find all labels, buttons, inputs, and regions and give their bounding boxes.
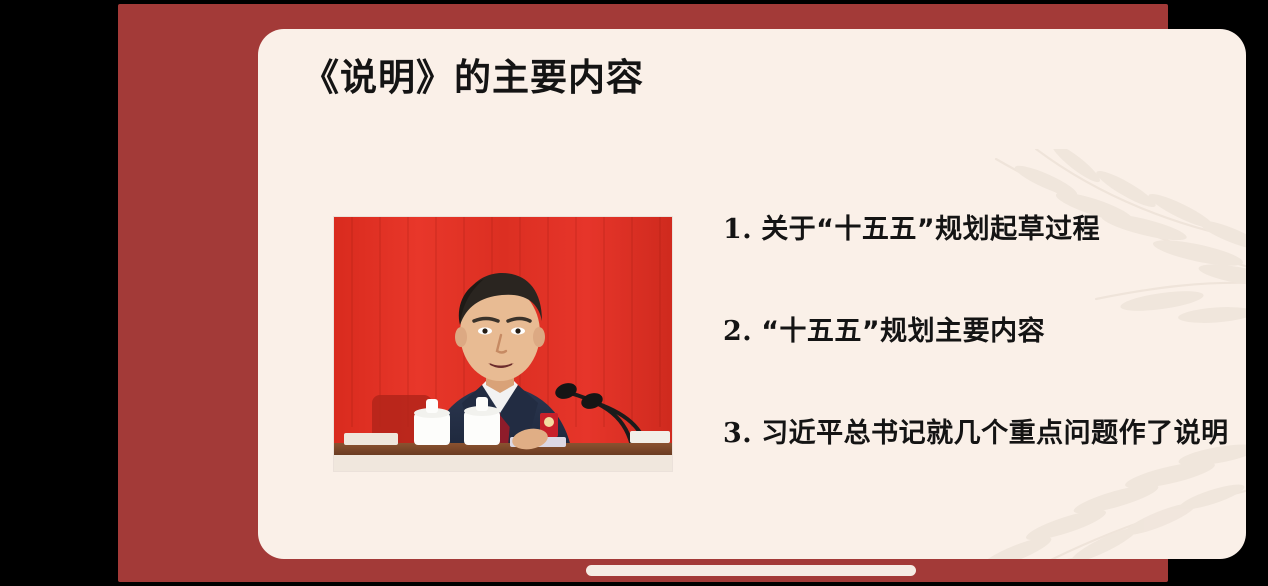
list-item-number: 3. bbox=[723, 418, 752, 449]
list-item: 3. 习近平总书记就几个重点问题作了说明 bbox=[723, 411, 1243, 450]
list-item-label: 习近平总书记就几个重点问题作了说明 bbox=[761, 411, 1229, 450]
progress-bar[interactable] bbox=[586, 565, 916, 576]
list-item-label: 关于“十五五”规划起草过程 bbox=[761, 207, 1100, 246]
list-item-label: “十五五”规划主要内容 bbox=[761, 309, 1045, 348]
page-title: 《说明》的主要内容 bbox=[302, 55, 644, 101]
meeting-photo-image bbox=[334, 217, 672, 471]
slide-frame-border: 《说明》的主要内容 bbox=[118, 4, 1168, 582]
meeting-photo bbox=[334, 217, 672, 471]
content-list: 1. 关于“十五五”规划起草过程 2. “十五五”规划主要内容 3. 习近平总书… bbox=[723, 207, 1243, 450]
slide-stage: 《说明》的主要内容 bbox=[0, 0, 1268, 586]
list-item-number: 2. bbox=[723, 316, 752, 347]
list-item: 2. “十五五”规划主要内容 bbox=[723, 309, 1243, 348]
slide-panel: 《说明》的主要内容 bbox=[258, 29, 1246, 559]
list-item: 1. 关于“十五五”规划起草过程 bbox=[723, 207, 1243, 246]
list-item-number: 1. bbox=[723, 214, 752, 245]
